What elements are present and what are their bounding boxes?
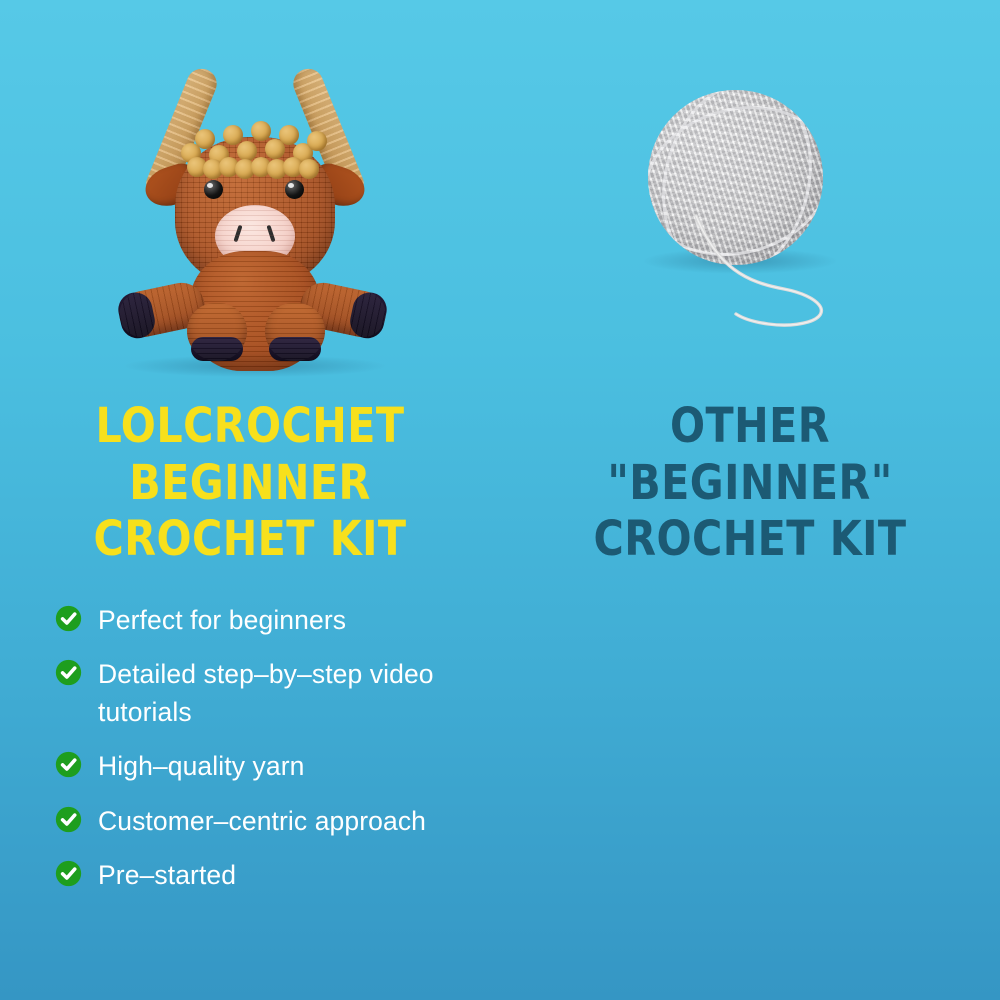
left-heading: LOLCROCHET BEGINNER CROCHET KIT <box>35 398 465 568</box>
left-column: LOLCROCHET BEGINNER CROCHET KIT Perfect … <box>0 0 500 1000</box>
cow-eye-right-icon <box>285 180 304 199</box>
list-item: Pre–started <box>55 856 515 894</box>
right-heading-line-2: "BEGINNER" <box>535 455 965 512</box>
list-item-label: Perfect for beginners <box>98 601 346 639</box>
crochet-cow-illustration <box>95 55 415 380</box>
list-item-label: Customer–centric approach <box>98 802 426 840</box>
cow-curly-fringe <box>177 117 333 177</box>
left-heading-line-2: BEGINNER <box>35 455 465 512</box>
check-circle-icon <box>55 659 82 686</box>
right-heading-line-1: OTHER <box>535 398 965 455</box>
list-item: Perfect for beginners <box>55 601 515 639</box>
left-bullet-list: Perfect for beginners Detailed step–by–s… <box>55 601 515 910</box>
right-heading: OTHER "BEGINNER" CROCHET KIT <box>535 398 965 568</box>
comparison-infographic: LOLCROCHET BEGINNER CROCHET KIT Perfect … <box>0 0 1000 1000</box>
left-heading-line-3: CROCHET KIT <box>35 511 465 568</box>
right-heading-line-3: CROCHET KIT <box>535 511 965 568</box>
right-column: OTHER "BEGINNER" CROCHET KIT Printed ins… <box>500 0 1000 1000</box>
cow-hoof-icon <box>269 337 321 361</box>
list-item: High–quality yarn <box>55 747 515 785</box>
other-kit-product-image <box>500 40 1000 385</box>
left-heading-line-1: LOLCROCHET <box>35 398 465 455</box>
check-circle-icon <box>55 751 82 778</box>
list-item-label: Detailed step–by–step video tutorials <box>98 655 498 731</box>
cow-nostril-right-icon <box>266 225 275 242</box>
cow-nostril-left-icon <box>233 225 242 242</box>
cow-hind-leg-left <box>187 303 247 361</box>
cow-hoof-icon <box>347 289 390 341</box>
check-circle-icon <box>55 860 82 887</box>
yarn-ball-illustration <box>648 90 863 340</box>
check-circle-icon <box>55 605 82 632</box>
yarn-loose-strand-icon <box>688 210 863 335</box>
list-item-label: Pre–started <box>98 856 236 894</box>
cow-hind-leg-right <box>265 303 325 361</box>
cow-hoof-icon <box>191 337 243 361</box>
cow-hoof-icon <box>115 289 158 341</box>
list-item: Detailed step–by–step video tutorials <box>55 655 515 731</box>
list-item: Customer–centric approach <box>55 802 515 840</box>
lolcrochet-product-image <box>0 40 500 385</box>
check-circle-icon <box>55 806 82 833</box>
list-item-label: High–quality yarn <box>98 747 304 785</box>
cow-eye-left-icon <box>204 180 223 199</box>
